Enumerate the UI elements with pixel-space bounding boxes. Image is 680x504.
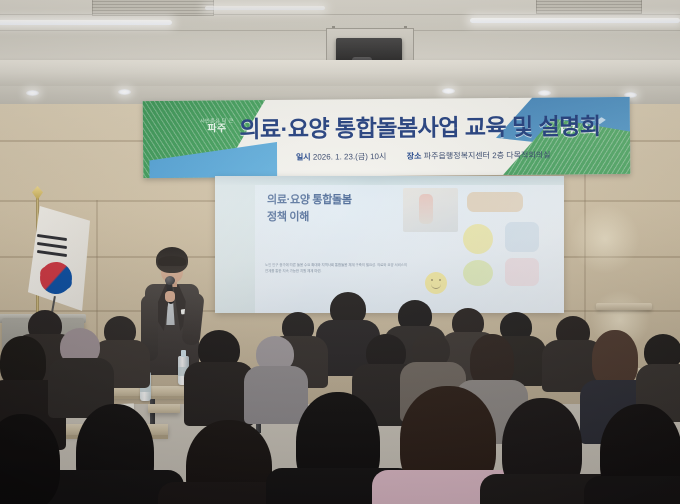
banner-date-value: 2026. 1. 23.(금) 10시 [313, 152, 387, 162]
presenter-hand [165, 291, 175, 302]
seminar-photo: 시민중심 더 큰 파주 PAJU 의료·요양 통합돌봄사업 교육 및 설명회 일… [0, 0, 680, 504]
ceiling-soffit [0, 60, 680, 86]
air-vent-right [536, 0, 642, 14]
downlight [26, 90, 39, 96]
slide-shape-tan [467, 192, 523, 212]
audience-body [244, 366, 308, 424]
wall-shelf [596, 303, 652, 310]
fluorescent-strip-light-left [0, 20, 172, 25]
slide-shape-yellow [463, 224, 493, 254]
fluorescent-strip-light-center [205, 6, 325, 10]
slide-photo [403, 188, 458, 232]
slide-shape-green [463, 260, 493, 286]
fluorescent-strip-light-right [470, 18, 680, 23]
banner-place-label: 장소 [407, 152, 422, 161]
banner-place-value: 파주읍행정복지센터 2층 다목적회의실 [424, 151, 551, 161]
slide-title-line1: 의료·요양 통합돌봄 [267, 192, 352, 209]
event-banner: 시민중심 더 큰 파주 PAJU 의료·요양 통합돌봄사업 교육 및 설명회 일… [143, 97, 631, 178]
projection-screen: 의료·요양 통합돌봄 정책 이해 노인 인구 증가에 따른 돌봄 수요 확대와 … [215, 176, 564, 313]
banner-title: 의료·요양 통합돌봄사업 교육 및 설명회 [225, 107, 615, 144]
audience-body-foreground [584, 476, 680, 504]
air-vent [92, 0, 214, 16]
table-row-center [148, 404, 180, 413]
banner-date-label: 일시 [296, 153, 311, 162]
slide-shape-pink [505, 258, 539, 286]
slide-body-text: 노인 인구 증가에 따른 돌봄 수요 확대와 지역사회 통합돌봄 체계 구축의 … [265, 262, 410, 275]
downlight [118, 89, 131, 95]
microphone-head-icon [165, 276, 175, 285]
slide-smiley-icon [425, 272, 447, 294]
slide-shape-blue [505, 222, 539, 252]
screen-top-bar [215, 176, 564, 185]
downlight [442, 88, 455, 94]
taegeuk-symbol-icon [36, 258, 76, 298]
slide-title: 의료·요양 통합돌봄 정책 이해 [267, 192, 352, 225]
downlight [538, 90, 551, 96]
slide-title-line2: 정책 이해 [267, 209, 352, 226]
